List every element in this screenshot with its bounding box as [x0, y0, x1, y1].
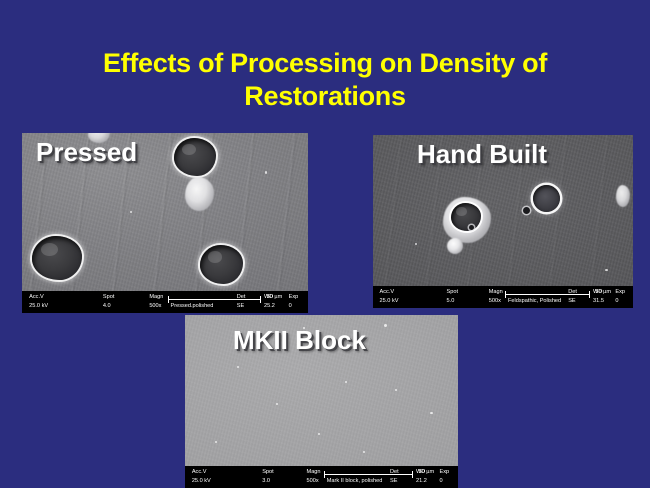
porosity-void: [533, 185, 560, 212]
databar-acc-v-value: 25.0 kV: [29, 302, 48, 311]
surface-speck: [363, 451, 365, 453]
sample-name-label: Feldspathic, Polished: [508, 297, 561, 306]
surface-speck: [384, 324, 387, 327]
surface-speck: [430, 412, 433, 414]
porosity-void: [451, 203, 481, 231]
panel-label-hand-built: Hand Built: [417, 141, 547, 167]
surface-speck: [130, 211, 132, 213]
databar-spot-header: Spot: [103, 293, 115, 302]
databar-magn-header: Magn: [489, 288, 503, 297]
surface-speck: [605, 269, 608, 271]
databar-acc-v-value: 25.0 kV: [192, 477, 211, 486]
page-title: Effects of Processing on Density of Rest…: [0, 47, 650, 113]
databar-spot-value: 5.0: [447, 297, 455, 306]
micrograph-hand-built[interactable]: Hand Built Acc.V Spot Magn Det WD Exp 25…: [373, 135, 633, 308]
scale-bar-label: 50 µm: [418, 468, 434, 477]
micrograph-mkii-block[interactable]: MKII Block Acc.V Spot Magn Det WD Exp 25…: [185, 315, 458, 488]
surface-speck: [276, 403, 278, 405]
sem-databar-hand-built: Acc.V Spot Magn Det WD Exp 25.0 kV 5.0 5…: [373, 286, 633, 308]
databar-magn-value: 500x: [149, 302, 161, 311]
sample-name-label: Pressed.polished: [170, 302, 213, 311]
databar-magn-value: 500x: [307, 477, 319, 486]
surface-speck: [395, 389, 397, 391]
panel-label-mkii-block: MKII Block: [233, 327, 366, 353]
databar-acc-v-header: Acc.V: [29, 293, 44, 302]
sem-databar-mkii-block: Acc.V Spot Magn Det WD Exp 25.0 kV 3.0 5…: [185, 466, 458, 488]
surface-speck: [265, 171, 267, 174]
micrograph-pressed[interactable]: Pressed Acc.V Spot Magn Det WD Exp 25.0 …: [22, 133, 308, 313]
panel-label-pressed: Pressed: [36, 139, 137, 165]
databar-spot-header: Spot: [447, 288, 459, 297]
scale-bar-label: 50 µm: [267, 293, 283, 302]
databar-acc-v-value: 25.0 kV: [380, 297, 399, 306]
porosity-void: [200, 245, 243, 284]
databar-magn-header: Magn: [307, 468, 321, 477]
porosity-void: [174, 138, 216, 176]
surface-speck: [415, 243, 417, 245]
sem-databar-pressed: Acc.V Spot Magn Det WD Exp 25.0 kV 4.0 5…: [22, 291, 308, 313]
scale-bar-label: 50 µm: [595, 288, 611, 297]
databar-spot-value: 3.0: [262, 477, 270, 486]
surface-speck: [345, 381, 347, 383]
sample-name-label: Mark II block, polished: [327, 477, 383, 486]
porosity-void: [523, 207, 530, 214]
porosity-void: [32, 236, 82, 280]
databar-acc-v-header: Acc.V: [192, 468, 207, 477]
surface-speck: [237, 366, 239, 368]
databar-magn-value: 500x: [489, 297, 501, 306]
surface-speck: [215, 441, 217, 443]
databar-spot-value: 4.0: [103, 302, 111, 311]
databar-acc-v-header: Acc.V: [380, 288, 395, 297]
databar-spot-header: Spot: [262, 468, 274, 477]
porosity-void: [447, 238, 463, 254]
surface-speck: [318, 433, 320, 435]
presentation-slide: Effects of Processing on Density of Rest…: [0, 0, 650, 488]
databar-magn-header: Magn: [149, 293, 163, 302]
porosity-void: [469, 225, 474, 230]
